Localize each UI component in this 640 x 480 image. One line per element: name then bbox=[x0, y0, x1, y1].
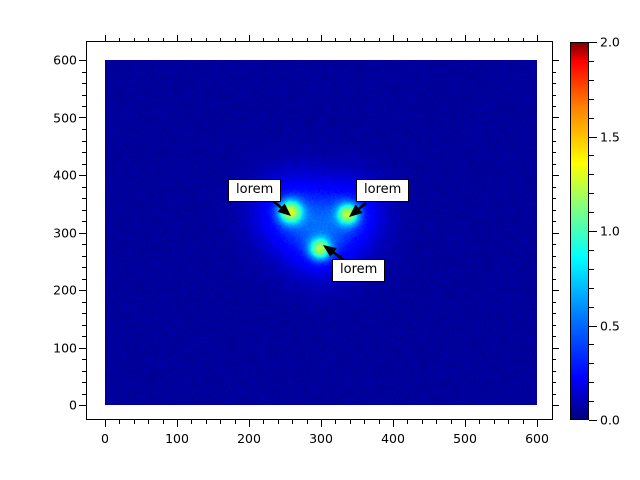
colorbar-minor-tick bbox=[589, 307, 594, 308]
y-minor-tick bbox=[552, 325, 556, 326]
y-minor-tick bbox=[552, 394, 556, 395]
colorbar bbox=[570, 42, 589, 420]
y-minor-tick bbox=[82, 394, 86, 395]
y-major-tick bbox=[552, 175, 559, 176]
x-minor-tick bbox=[263, 38, 264, 42]
colorbar-minor-tick bbox=[589, 118, 594, 119]
x-tick-label: 100 bbox=[165, 431, 189, 446]
x-minor-tick bbox=[422, 38, 423, 42]
x-minor-tick bbox=[148, 420, 149, 424]
y-minor-tick bbox=[552, 359, 556, 360]
y-minor-tick bbox=[552, 244, 556, 245]
y-minor-tick bbox=[82, 371, 86, 372]
colorbar-minor-tick bbox=[589, 193, 594, 194]
x-minor-tick bbox=[292, 420, 293, 424]
x-tick-label: 200 bbox=[237, 431, 261, 446]
x-minor-tick bbox=[479, 38, 480, 42]
colorbar-minor-tick bbox=[589, 212, 594, 213]
x-major-tick bbox=[465, 420, 466, 427]
colorbar-minor-tick bbox=[589, 288, 594, 289]
y-minor-tick bbox=[552, 72, 556, 73]
y-minor-tick bbox=[82, 106, 86, 107]
colorbar-minor-tick bbox=[589, 269, 594, 270]
y-minor-tick bbox=[552, 198, 556, 199]
annotation-label-1[interactable]: lorem bbox=[228, 179, 281, 202]
x-minor-tick bbox=[523, 38, 524, 42]
colorbar-minor-tick bbox=[589, 382, 594, 383]
y-minor-tick bbox=[552, 210, 556, 211]
colorbar-major-tick bbox=[589, 420, 597, 421]
y-major-tick bbox=[79, 290, 86, 291]
x-minor-tick bbox=[436, 420, 437, 424]
x-minor-tick bbox=[307, 38, 308, 42]
x-minor-tick bbox=[451, 38, 452, 42]
x-minor-tick bbox=[278, 420, 279, 424]
y-minor-tick bbox=[82, 198, 86, 199]
x-minor-tick bbox=[163, 420, 164, 424]
x-minor-tick bbox=[379, 38, 380, 42]
x-tick-label: 600 bbox=[525, 431, 549, 446]
x-major-tick bbox=[105, 420, 106, 427]
x-minor-tick bbox=[235, 420, 236, 424]
x-major-tick bbox=[177, 35, 178, 42]
x-major-tick bbox=[249, 35, 250, 42]
x-tick-label: 0 bbox=[101, 431, 109, 446]
colorbar-major-tick bbox=[589, 326, 597, 327]
y-minor-tick bbox=[82, 83, 86, 84]
colorbar-tick-label: 1.5 bbox=[600, 129, 620, 144]
x-minor-tick bbox=[235, 38, 236, 42]
x-minor-tick bbox=[494, 420, 495, 424]
x-major-tick bbox=[321, 420, 322, 427]
x-minor-tick bbox=[379, 420, 380, 424]
y-major-tick bbox=[79, 233, 86, 234]
y-minor-tick bbox=[82, 325, 86, 326]
colorbar-major-tick bbox=[589, 231, 597, 232]
y-minor-tick bbox=[82, 72, 86, 73]
x-minor-tick bbox=[134, 38, 135, 42]
y-minor-tick bbox=[552, 187, 556, 188]
x-minor-tick bbox=[307, 420, 308, 424]
x-minor-tick bbox=[479, 420, 480, 424]
y-minor-tick bbox=[82, 164, 86, 165]
y-minor-tick bbox=[552, 129, 556, 130]
y-tick-label: 0 bbox=[69, 398, 77, 413]
colorbar-tick-label: 2.0 bbox=[600, 35, 620, 50]
y-minor-tick bbox=[552, 221, 556, 222]
x-minor-tick bbox=[278, 38, 279, 42]
colorbar-minor-tick bbox=[589, 155, 594, 156]
x-minor-tick bbox=[335, 38, 336, 42]
y-minor-tick bbox=[552, 164, 556, 165]
x-minor-tick bbox=[494, 38, 495, 42]
y-minor-tick bbox=[82, 95, 86, 96]
x-minor-tick bbox=[191, 38, 192, 42]
x-tick-label: 300 bbox=[309, 431, 333, 446]
y-minor-tick bbox=[82, 129, 86, 130]
x-minor-tick bbox=[407, 38, 408, 42]
y-major-tick bbox=[552, 348, 559, 349]
y-minor-tick bbox=[82, 141, 86, 142]
colorbar-minor-tick bbox=[589, 250, 594, 251]
colorbar-major-tick bbox=[589, 137, 597, 138]
y-tick-label: 200 bbox=[53, 283, 77, 298]
y-major-tick bbox=[552, 60, 559, 61]
y-major-tick bbox=[552, 117, 559, 118]
x-minor-tick bbox=[292, 38, 293, 42]
y-minor-tick bbox=[552, 382, 556, 383]
y-minor-tick bbox=[552, 106, 556, 107]
colorbar-gradient bbox=[570, 42, 589, 420]
y-minor-tick bbox=[82, 302, 86, 303]
x-major-tick bbox=[393, 35, 394, 42]
x-minor-tick bbox=[119, 38, 120, 42]
y-tick-label: 400 bbox=[53, 168, 77, 183]
x-minor-tick bbox=[508, 38, 509, 42]
y-minor-tick bbox=[82, 267, 86, 268]
x-major-tick bbox=[105, 35, 106, 42]
y-minor-tick bbox=[82, 279, 86, 280]
annotation-label-3[interactable]: lorem bbox=[332, 259, 385, 282]
colorbar-minor-tick bbox=[589, 99, 594, 100]
x-minor-tick bbox=[206, 38, 207, 42]
y-minor-tick bbox=[82, 359, 86, 360]
heatmap-canvas bbox=[105, 60, 537, 405]
y-tick-label: 600 bbox=[53, 53, 77, 68]
y-minor-tick bbox=[552, 152, 556, 153]
y-minor-tick bbox=[552, 336, 556, 337]
y-major-tick bbox=[79, 60, 86, 61]
figure-canvas: 0100200300400500600 0100200300400500600 … bbox=[0, 0, 640, 480]
y-minor-tick bbox=[552, 256, 556, 257]
x-minor-tick bbox=[364, 420, 365, 424]
y-minor-tick bbox=[552, 371, 556, 372]
x-major-tick bbox=[177, 420, 178, 427]
y-major-tick bbox=[552, 290, 559, 291]
colorbar-tick-label: 0.0 bbox=[600, 413, 620, 428]
y-major-tick bbox=[79, 348, 86, 349]
colorbar-tick-label: 0.5 bbox=[600, 318, 620, 333]
y-minor-tick bbox=[82, 256, 86, 257]
heatmap-image bbox=[105, 60, 537, 405]
y-major-tick bbox=[79, 175, 86, 176]
x-minor-tick bbox=[335, 420, 336, 424]
x-minor-tick bbox=[220, 38, 221, 42]
y-minor-tick bbox=[82, 336, 86, 337]
colorbar-minor-tick bbox=[589, 61, 594, 62]
y-minor-tick bbox=[82, 187, 86, 188]
y-minor-tick bbox=[82, 210, 86, 211]
y-minor-tick bbox=[552, 95, 556, 96]
x-minor-tick bbox=[422, 420, 423, 424]
y-minor-tick bbox=[552, 141, 556, 142]
x-minor-tick bbox=[350, 38, 351, 42]
x-minor-tick bbox=[436, 38, 437, 42]
y-minor-tick bbox=[552, 313, 556, 314]
x-minor-tick bbox=[523, 420, 524, 424]
y-major-tick bbox=[552, 233, 559, 234]
x-minor-tick bbox=[263, 420, 264, 424]
y-tick-label: 100 bbox=[53, 340, 77, 355]
annotation-label-2[interactable]: lorem bbox=[356, 179, 409, 202]
y-major-tick bbox=[79, 117, 86, 118]
x-minor-tick bbox=[134, 420, 135, 424]
x-major-tick bbox=[321, 35, 322, 42]
colorbar-minor-tick bbox=[589, 174, 594, 175]
x-major-tick bbox=[393, 420, 394, 427]
y-minor-tick bbox=[82, 152, 86, 153]
x-minor-tick bbox=[148, 38, 149, 42]
y-tick-label: 300 bbox=[53, 225, 77, 240]
y-minor-tick bbox=[82, 313, 86, 314]
colorbar-minor-tick bbox=[589, 344, 594, 345]
colorbar-minor-tick bbox=[589, 80, 594, 81]
x-minor-tick bbox=[508, 420, 509, 424]
x-minor-tick bbox=[191, 420, 192, 424]
y-tick-label: 500 bbox=[53, 110, 77, 125]
x-minor-tick bbox=[451, 420, 452, 424]
x-minor-tick bbox=[163, 38, 164, 42]
x-minor-tick bbox=[119, 420, 120, 424]
x-minor-tick bbox=[350, 420, 351, 424]
y-major-tick bbox=[79, 405, 86, 406]
x-minor-tick bbox=[364, 38, 365, 42]
x-major-tick bbox=[537, 35, 538, 42]
x-major-tick bbox=[537, 420, 538, 427]
y-minor-tick bbox=[82, 221, 86, 222]
colorbar-major-tick bbox=[589, 42, 597, 43]
y-minor-tick bbox=[82, 382, 86, 383]
y-major-tick bbox=[552, 405, 559, 406]
x-minor-tick bbox=[206, 420, 207, 424]
colorbar-minor-tick bbox=[589, 363, 594, 364]
x-minor-tick bbox=[220, 420, 221, 424]
colorbar-tick-label: 1.0 bbox=[600, 224, 620, 239]
y-minor-tick bbox=[552, 267, 556, 268]
y-minor-tick bbox=[552, 302, 556, 303]
y-minor-tick bbox=[552, 83, 556, 84]
colorbar-minor-tick bbox=[589, 401, 594, 402]
x-major-tick bbox=[465, 35, 466, 42]
x-minor-tick bbox=[407, 420, 408, 424]
x-tick-label: 500 bbox=[453, 431, 477, 446]
y-minor-tick bbox=[552, 279, 556, 280]
y-minor-tick bbox=[82, 244, 86, 245]
x-major-tick bbox=[249, 420, 250, 427]
x-tick-label: 400 bbox=[381, 431, 405, 446]
